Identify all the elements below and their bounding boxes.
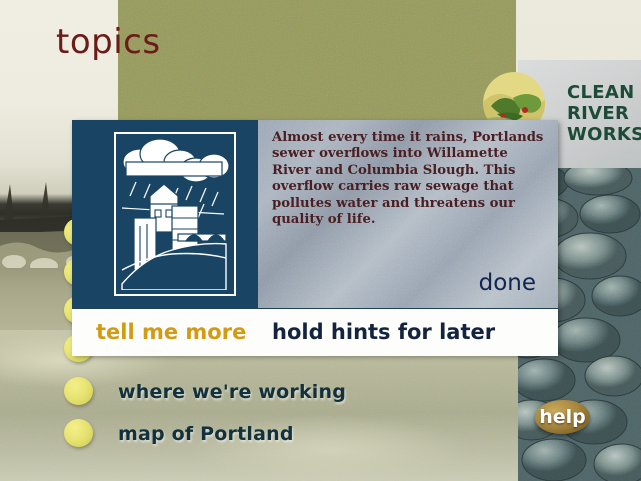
dialog-action-bar: tell me more hold hints for later xyxy=(72,308,558,356)
brand-line-1: CLEAN xyxy=(567,82,641,103)
brand-wordmark: CLEAN RIVER WORKS xyxy=(567,82,641,145)
tell-me-more-button[interactable]: tell me more xyxy=(96,320,246,344)
sidebar-item-where-were-working[interactable]: where we're working xyxy=(118,381,346,403)
topic-dialog: Almost every time it rains, Portlands se… xyxy=(72,120,558,355)
brand-line-3: WORKS xyxy=(567,124,641,145)
city-rain-bridge-illustration xyxy=(114,132,236,296)
green-texture-noise xyxy=(118,0,516,120)
dialog-text-panel: Almost every time it rains, Portlands se… xyxy=(258,120,558,308)
sidebar-item-map-of-portland[interactable]: map of Portland xyxy=(118,423,294,445)
dialog-illustration-panel xyxy=(72,120,258,308)
dialog-body-text: Almost every time it rains, Portlands se… xyxy=(272,130,548,228)
help-button-label: help xyxy=(535,400,590,434)
page-title: topics xyxy=(56,22,161,62)
brand-line-2: RIVER xyxy=(567,103,641,124)
done-button[interactable]: done xyxy=(479,270,536,296)
menu-bullet-5[interactable] xyxy=(64,377,93,405)
hold-hints-for-later-button[interactable]: hold hints for later xyxy=(272,320,495,344)
application-screen: topics CLEAN RIVER WORKS xyxy=(0,0,641,481)
topics-header-panel xyxy=(118,0,516,120)
help-button[interactable]: help xyxy=(535,400,590,434)
menu-bullet-6[interactable] xyxy=(64,419,93,447)
